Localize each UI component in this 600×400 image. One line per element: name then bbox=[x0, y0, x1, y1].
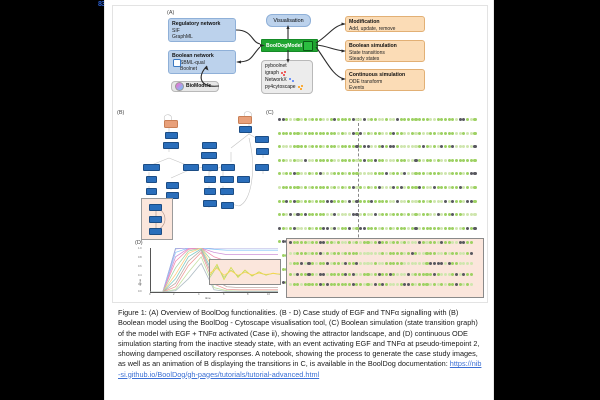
networkx-icon bbox=[289, 78, 295, 83]
state-node bbox=[466, 241, 469, 244]
network-node-highlighted[interactable] bbox=[149, 228, 162, 235]
state-node bbox=[466, 200, 469, 203]
state-node bbox=[381, 186, 384, 189]
state-node bbox=[425, 252, 428, 255]
state-node bbox=[451, 273, 454, 276]
booldogmodel-core-box[interactable]: BoolDogModel bbox=[261, 39, 318, 52]
biomodels-box[interactable]: BioModels bbox=[171, 81, 219, 92]
booldogmodel-label: BoolDogModel bbox=[266, 43, 302, 49]
state-node bbox=[333, 145, 336, 148]
state-node bbox=[411, 227, 414, 230]
visualisation-box[interactable]: Visualisation bbox=[266, 14, 311, 27]
state-node bbox=[344, 241, 347, 244]
state-node bbox=[466, 186, 469, 189]
state-node bbox=[296, 252, 299, 255]
state-node bbox=[389, 172, 392, 175]
state-node bbox=[278, 186, 281, 189]
state-node bbox=[282, 240, 285, 243]
state-node bbox=[319, 262, 322, 265]
state-node bbox=[337, 172, 340, 175]
network-node[interactable] bbox=[237, 176, 250, 183]
state-node bbox=[407, 252, 410, 255]
state-node bbox=[444, 118, 447, 121]
state-node bbox=[473, 159, 476, 162]
state-node bbox=[282, 281, 285, 284]
state-node bbox=[433, 273, 436, 276]
state-node bbox=[466, 262, 469, 265]
state-node bbox=[296, 118, 299, 121]
state-node bbox=[425, 273, 428, 276]
state-node bbox=[333, 200, 336, 203]
state-node bbox=[355, 118, 358, 121]
state-node bbox=[282, 200, 285, 203]
state-node bbox=[455, 213, 458, 216]
state-node bbox=[451, 252, 454, 255]
state-node bbox=[429, 200, 432, 203]
chart-ytick: 0.4 bbox=[138, 274, 142, 277]
state-node bbox=[466, 145, 469, 148]
state-node bbox=[330, 241, 333, 244]
output-box-continuous-simulation[interactable]: Continuous simulation ODE transform Even… bbox=[345, 69, 425, 91]
state-node bbox=[459, 252, 462, 255]
state-node bbox=[437, 200, 440, 203]
network-node[interactable] bbox=[146, 188, 157, 195]
state-node bbox=[322, 118, 325, 121]
state-node bbox=[429, 252, 432, 255]
state-node bbox=[304, 132, 307, 135]
state-node bbox=[451, 172, 454, 175]
state-node bbox=[370, 213, 373, 216]
state-node bbox=[370, 159, 373, 162]
state-node bbox=[381, 283, 384, 286]
state-node bbox=[422, 172, 425, 175]
network-node[interactable] bbox=[255, 164, 269, 171]
state-node bbox=[304, 262, 307, 265]
state-node bbox=[459, 227, 462, 230]
state-node bbox=[389, 145, 392, 148]
state-node bbox=[459, 283, 462, 286]
state-node bbox=[470, 132, 473, 135]
state-node bbox=[448, 252, 451, 255]
state-node bbox=[370, 132, 373, 135]
state-node bbox=[341, 283, 344, 286]
state-node bbox=[462, 118, 465, 121]
state-node bbox=[285, 227, 288, 230]
chart-x-axis bbox=[150, 292, 278, 293]
state-node bbox=[470, 200, 473, 203]
network-node[interactable] bbox=[166, 182, 179, 189]
state-node bbox=[311, 118, 314, 121]
state-node bbox=[282, 213, 285, 216]
network-node-source[interactable] bbox=[164, 120, 178, 128]
state-node bbox=[392, 118, 395, 121]
state-node bbox=[411, 283, 414, 286]
state-node bbox=[396, 200, 399, 203]
state-node bbox=[422, 273, 425, 276]
state-node bbox=[448, 227, 451, 230]
network-node-highlighted[interactable] bbox=[149, 216, 162, 223]
state-node bbox=[278, 240, 281, 243]
state-node bbox=[448, 118, 451, 121]
state-node bbox=[444, 132, 447, 135]
state-node bbox=[333, 227, 336, 230]
network-node[interactable] bbox=[255, 136, 269, 143]
input-box-line: SBML-qual bbox=[172, 60, 232, 67]
state-row bbox=[278, 145, 477, 148]
state-node bbox=[407, 159, 410, 162]
state-node bbox=[437, 145, 440, 148]
state-node bbox=[319, 252, 322, 255]
state-node bbox=[470, 283, 473, 286]
state-node bbox=[326, 241, 329, 244]
state-node bbox=[378, 213, 381, 216]
state-node bbox=[433, 227, 436, 230]
state-node bbox=[429, 283, 432, 286]
state-node bbox=[396, 172, 399, 175]
state-node bbox=[378, 262, 381, 265]
network-node[interactable] bbox=[163, 142, 179, 149]
network-node-highlighted[interactable] bbox=[149, 204, 162, 211]
panel-c-attractor-inset[interactable] bbox=[286, 238, 484, 298]
state-node bbox=[330, 227, 333, 230]
state-node bbox=[466, 273, 469, 276]
state-node bbox=[367, 200, 370, 203]
network-node[interactable] bbox=[221, 164, 235, 171]
state-node bbox=[473, 200, 476, 203]
state-node bbox=[337, 132, 340, 135]
state-node bbox=[315, 213, 318, 216]
state-node bbox=[300, 227, 303, 230]
state-node bbox=[374, 283, 377, 286]
state-node bbox=[392, 172, 395, 175]
state-node bbox=[414, 262, 417, 265]
state-node bbox=[366, 273, 369, 276]
state-node bbox=[418, 252, 421, 255]
state-node bbox=[389, 159, 392, 162]
state-node bbox=[426, 200, 429, 203]
state-node bbox=[462, 262, 465, 265]
state-node bbox=[400, 118, 403, 121]
state-node bbox=[341, 186, 344, 189]
network-node[interactable] bbox=[146, 176, 157, 183]
network-node[interactable] bbox=[239, 126, 252, 133]
chart-xtick: 0 bbox=[149, 293, 150, 296]
state-node bbox=[315, 172, 318, 175]
state-node bbox=[403, 159, 406, 162]
state-node bbox=[293, 172, 296, 175]
state-node bbox=[433, 283, 436, 286]
state-node bbox=[285, 132, 288, 135]
state-node bbox=[370, 252, 373, 255]
state-node bbox=[389, 186, 392, 189]
state-node bbox=[344, 145, 347, 148]
state-node bbox=[444, 227, 447, 230]
state-node bbox=[322, 186, 325, 189]
state-node bbox=[433, 200, 436, 203]
state-node bbox=[352, 118, 355, 121]
state-node bbox=[344, 186, 347, 189]
state-node bbox=[315, 227, 318, 230]
state-node bbox=[396, 252, 399, 255]
state-node bbox=[322, 241, 325, 244]
network-node[interactable] bbox=[201, 152, 217, 159]
state-node bbox=[319, 159, 322, 162]
state-node bbox=[296, 145, 299, 148]
network-node[interactable] bbox=[256, 148, 269, 155]
state-node bbox=[466, 283, 469, 286]
state-node bbox=[311, 252, 314, 255]
network-node[interactable] bbox=[165, 132, 178, 139]
state-node bbox=[300, 262, 303, 265]
state-node bbox=[433, 252, 436, 255]
state-node bbox=[355, 241, 358, 244]
state-node bbox=[440, 213, 443, 216]
state-node bbox=[440, 241, 443, 244]
state-node bbox=[385, 132, 388, 135]
state-node bbox=[330, 262, 333, 265]
state-node bbox=[414, 241, 417, 244]
state-node bbox=[459, 262, 462, 265]
state-node bbox=[337, 200, 340, 203]
state-node bbox=[359, 273, 362, 276]
output-box-line: Add, update, remove bbox=[349, 26, 421, 32]
state-node bbox=[462, 145, 465, 148]
state-node bbox=[330, 252, 333, 255]
network-node[interactable] bbox=[183, 164, 199, 171]
state-node bbox=[341, 252, 344, 255]
state-node bbox=[407, 273, 410, 276]
state-node bbox=[326, 132, 329, 135]
state-node bbox=[278, 172, 281, 175]
chart-ytick: 1.0 bbox=[138, 247, 142, 250]
state-node bbox=[322, 132, 325, 135]
state-node bbox=[437, 118, 440, 121]
state-node bbox=[444, 159, 447, 162]
state-node bbox=[414, 283, 417, 286]
state-node bbox=[400, 145, 403, 148]
state-node bbox=[385, 213, 388, 216]
state-node bbox=[282, 159, 285, 162]
network-node[interactable] bbox=[143, 164, 160, 171]
network-node[interactable] bbox=[220, 176, 234, 183]
state-node bbox=[451, 159, 454, 162]
state-node bbox=[459, 273, 462, 276]
sbml-qual-icon bbox=[173, 59, 181, 67]
state-node bbox=[422, 252, 425, 255]
state-node bbox=[326, 145, 329, 148]
state-node bbox=[385, 118, 388, 121]
state-node bbox=[470, 227, 473, 230]
state-node bbox=[333, 213, 336, 216]
state-node bbox=[407, 241, 410, 244]
network-node[interactable] bbox=[221, 202, 234, 209]
state-node bbox=[359, 172, 362, 175]
state-node bbox=[344, 227, 347, 230]
state-node bbox=[333, 252, 336, 255]
state-node bbox=[440, 186, 443, 189]
input-box-regulatory-network[interactable]: Regulatory network SIF GraphML bbox=[168, 18, 236, 42]
state-node bbox=[414, 273, 417, 276]
state-node bbox=[289, 227, 292, 230]
state-node bbox=[392, 273, 395, 276]
state-node bbox=[293, 273, 296, 276]
state-node bbox=[433, 132, 436, 135]
network-node[interactable] bbox=[203, 200, 217, 207]
state-node bbox=[433, 118, 436, 121]
state-node bbox=[322, 159, 325, 162]
state-node bbox=[352, 283, 355, 286]
state-node bbox=[315, 262, 318, 265]
state-row bbox=[289, 283, 473, 286]
state-node bbox=[333, 283, 336, 286]
state-node bbox=[322, 273, 325, 276]
state-node bbox=[411, 262, 414, 265]
state-node bbox=[374, 262, 377, 265]
state-node bbox=[381, 252, 384, 255]
state-node bbox=[330, 213, 333, 216]
state-node bbox=[315, 283, 318, 286]
state-node bbox=[440, 118, 443, 121]
state-node bbox=[333, 262, 336, 265]
state-node bbox=[330, 283, 333, 286]
state-node bbox=[341, 262, 344, 265]
network-node-source[interactable] bbox=[238, 116, 252, 124]
state-node bbox=[444, 186, 447, 189]
state-node bbox=[370, 283, 373, 286]
state-node bbox=[462, 200, 465, 203]
state-node bbox=[444, 241, 447, 244]
state-node bbox=[378, 186, 381, 189]
state-node bbox=[289, 252, 292, 255]
state-node bbox=[389, 227, 392, 230]
library-row: NetworkX bbox=[265, 77, 309, 84]
state-node bbox=[473, 118, 476, 121]
state-node bbox=[363, 159, 366, 162]
state-node bbox=[378, 132, 381, 135]
state-node bbox=[459, 172, 462, 175]
state-node bbox=[348, 283, 351, 286]
state-node bbox=[466, 159, 469, 162]
state-node bbox=[440, 227, 443, 230]
state-node bbox=[407, 262, 410, 265]
state-node bbox=[470, 145, 473, 148]
network-node[interactable] bbox=[204, 176, 216, 183]
state-node bbox=[374, 213, 377, 216]
state-node bbox=[344, 159, 347, 162]
state-node bbox=[403, 132, 406, 135]
state-node bbox=[374, 200, 377, 203]
state-node bbox=[459, 145, 462, 148]
state-node bbox=[282, 145, 285, 148]
state-node bbox=[311, 186, 314, 189]
state-node bbox=[418, 132, 421, 135]
state-node bbox=[370, 172, 373, 175]
state-node bbox=[322, 172, 325, 175]
state-row bbox=[289, 241, 473, 244]
network-node[interactable] bbox=[220, 188, 234, 195]
state-node bbox=[433, 241, 436, 244]
state-node bbox=[355, 262, 358, 265]
state-node bbox=[304, 241, 307, 244]
state-node bbox=[455, 200, 458, 203]
state-node bbox=[367, 118, 370, 121]
panel-d-oscillation-inset[interactable] bbox=[209, 259, 281, 285]
library-label: py4cytoscape bbox=[265, 84, 296, 91]
output-box-boolean-simulation[interactable]: Boolean simulation State transitions Ste… bbox=[345, 40, 425, 62]
state-node bbox=[333, 273, 336, 276]
state-node bbox=[374, 273, 377, 276]
state-node bbox=[326, 213, 329, 216]
state-node bbox=[296, 241, 299, 244]
state-node bbox=[448, 283, 451, 286]
output-box-modification[interactable]: Modification Add, update, remove bbox=[345, 16, 425, 32]
state-node bbox=[355, 273, 358, 276]
state-node bbox=[319, 227, 322, 230]
network-node[interactable] bbox=[202, 164, 218, 171]
state-node bbox=[300, 159, 303, 162]
network-node[interactable] bbox=[202, 142, 217, 149]
state-node bbox=[392, 262, 395, 265]
network-node[interactable] bbox=[204, 188, 216, 195]
state-node bbox=[425, 262, 428, 265]
panel-tag-b: (B) bbox=[117, 110, 124, 116]
state-node bbox=[418, 159, 421, 162]
panel-tag-a: (A) bbox=[167, 10, 174, 16]
state-node bbox=[378, 200, 381, 203]
state-node bbox=[348, 172, 351, 175]
state-node bbox=[440, 273, 443, 276]
output-box-title: Modification bbox=[349, 19, 421, 26]
state-row bbox=[278, 132, 477, 135]
state-node bbox=[403, 172, 406, 175]
state-node bbox=[363, 145, 366, 148]
output-box-title: Continuous simulation bbox=[349, 72, 421, 79]
state-node bbox=[289, 262, 292, 265]
state-node bbox=[326, 227, 329, 230]
state-node bbox=[411, 186, 414, 189]
state-node bbox=[455, 262, 458, 265]
state-node bbox=[355, 283, 358, 286]
state-node bbox=[315, 159, 318, 162]
state-node bbox=[403, 118, 406, 121]
state-node bbox=[278, 159, 281, 162]
state-node bbox=[296, 172, 299, 175]
state-node bbox=[363, 132, 366, 135]
state-node bbox=[403, 252, 406, 255]
state-node bbox=[363, 227, 366, 230]
state-node bbox=[451, 145, 454, 148]
state-node bbox=[414, 213, 417, 216]
state-node bbox=[418, 186, 421, 189]
state-node bbox=[470, 252, 473, 255]
state-node bbox=[451, 262, 454, 265]
state-node bbox=[440, 283, 443, 286]
state-node bbox=[300, 252, 303, 255]
state-node bbox=[466, 227, 469, 230]
state-row bbox=[278, 118, 477, 121]
page-corner-mark: 83 bbox=[98, 1, 105, 8]
state-node bbox=[392, 213, 395, 216]
state-node bbox=[437, 132, 440, 135]
state-node bbox=[381, 172, 384, 175]
state-node bbox=[300, 132, 303, 135]
state-node bbox=[348, 132, 351, 135]
state-node bbox=[326, 200, 329, 203]
state-node bbox=[389, 132, 392, 135]
state-node bbox=[455, 283, 458, 286]
state-node bbox=[473, 227, 476, 230]
state-node bbox=[300, 145, 303, 148]
